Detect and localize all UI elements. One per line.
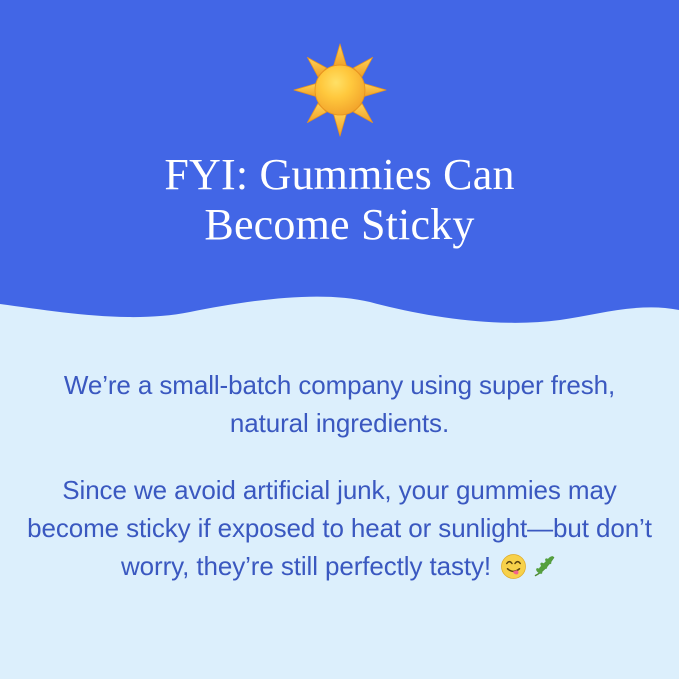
page-title: FYI: Gummies Can Become Sticky xyxy=(0,150,679,250)
informational-card: FYI: Gummies Can Become Sticky We’re a s… xyxy=(0,0,679,679)
sun-emoji xyxy=(292,42,388,138)
hero-panel: FYI: Gummies Can Become Sticky xyxy=(0,0,679,345)
body-paragraph-2-text: Since we avoid artificial junk, your gum… xyxy=(27,475,652,581)
face-savoring-food-emoji xyxy=(500,553,527,580)
body-paragraph-2: Since we avoid artificial junk, your gum… xyxy=(0,471,679,585)
body-paragraph-1: We’re a small-batch company using super … xyxy=(0,366,679,442)
sun-icon-container xyxy=(0,42,679,138)
body-copy-section: We’re a small-batch company using super … xyxy=(0,366,679,585)
herb-leaf-emoji xyxy=(531,553,558,580)
